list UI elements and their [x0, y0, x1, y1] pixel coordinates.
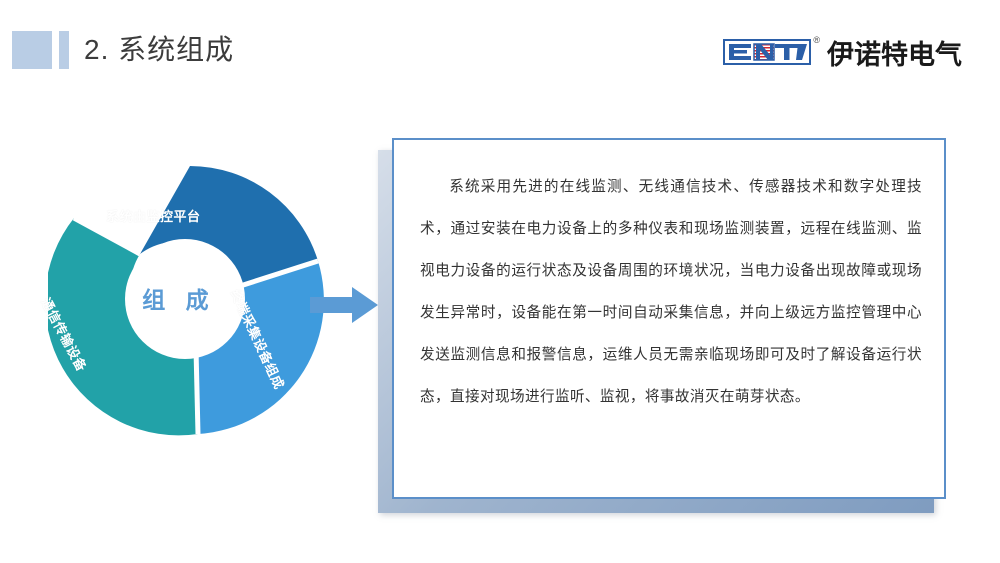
header-accent-bar-wide — [12, 31, 52, 69]
composition-donut-diagram: 系统由监控平台 通信传输设备 终端采集设备组成 组 成 — [48, 158, 332, 442]
right-arrow-icon — [310, 285, 380, 325]
page-title: 2. 系统组成 — [84, 28, 234, 68]
donut-label-platform: 系统由监控平台 — [106, 206, 201, 225]
description-panel-group: 系统采用先进的在线监测、无线通信技术、传感器技术和数字处理技术，通过安装在电力设… — [378, 138, 948, 513]
registered-trademark-icon: ® — [813, 35, 820, 45]
page-header: 2. 系统组成 — [0, 0, 1000, 100]
header-accent-bar-narrow — [59, 31, 69, 69]
description-panel: 系统采用先进的在线监测、无线通信技术、传感器技术和数字处理技术，通过安装在电力设… — [392, 138, 946, 499]
company-logo: ® 伊诺特电气 — [723, 32, 962, 72]
ent-logo-mark: ® — [723, 38, 811, 66]
description-text: 系统采用先进的在线监测、无线通信技术、传感器技术和数字处理技术，通过安装在电力设… — [420, 166, 922, 418]
company-name: 伊诺特电气 — [827, 33, 962, 72]
